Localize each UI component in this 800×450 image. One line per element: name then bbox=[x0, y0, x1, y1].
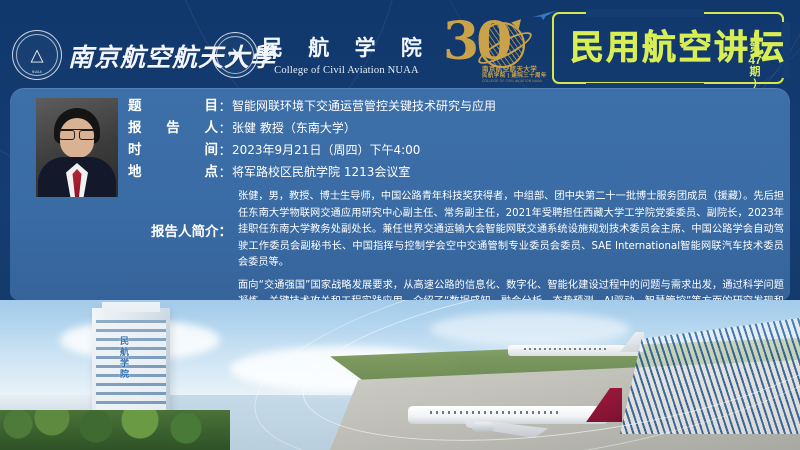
colon-title: ： bbox=[218, 96, 232, 117]
info-row-speaker: 报告人 ： 张健 教授（东南大学） bbox=[128, 118, 784, 139]
issue-badge: ( 第 47 期 ) bbox=[742, 30, 768, 90]
poster-header: △ NUAA 南京航空航天大學 ✈ 民 航 学 院 College of Civ… bbox=[0, 0, 800, 95]
label-location: 地点 bbox=[128, 162, 218, 183]
building-signage: 民航学院 bbox=[118, 336, 131, 380]
college-name-cn: 民 航 学 院 bbox=[262, 32, 431, 62]
poster-root: △ NUAA 南京航空航天大學 ✈ 民 航 学 院 College of Civ… bbox=[0, 0, 800, 450]
seal-wings-icon: ✈ bbox=[228, 47, 242, 64]
label-title: 题目 bbox=[128, 96, 218, 117]
value-location: 将军路校区民航学院 1213会议室 bbox=[232, 162, 410, 183]
campus-photo-band: 民航学院 bbox=[0, 300, 800, 450]
value-speaker: 张健 教授（东南大学） bbox=[232, 118, 356, 139]
speaker-portrait bbox=[36, 98, 118, 197]
college-name-en: College of Civil Aviation NUAA bbox=[262, 65, 431, 76]
bracket-cut-top bbox=[586, 9, 704, 17]
label-time: 时间 bbox=[128, 140, 218, 161]
university-seal-icon: △ NUAA bbox=[12, 30, 62, 80]
college-building bbox=[92, 308, 170, 426]
value-title: 智能网联环境下交通运营管控关键技术研究与应用 bbox=[232, 96, 496, 117]
issue-suffix: 期 bbox=[742, 66, 768, 78]
forum-title-badge: 民用航空讲坛 ( 第 47 期 ) bbox=[552, 12, 790, 88]
issue-number: 47 bbox=[742, 54, 768, 66]
colon-time: ： bbox=[218, 140, 232, 161]
speaker-bio-block: 报告人简介： 张健，男，教授、博士生导师，中国公路青年科技奖获得者，中组部、团中… bbox=[128, 189, 784, 272]
info-row-location: 地点 ： 将军路校区民航学院 1213会议室 bbox=[128, 162, 784, 183]
issue-bracket-open: ( bbox=[742, 30, 768, 42]
anniversary-caption-en: COLLEGE OF CIVIL AVIATION NUAA bbox=[482, 79, 542, 83]
seal-glyph-icon: △ bbox=[30, 47, 43, 64]
tree-line bbox=[0, 410, 230, 450]
info-row-title: 题目 ： 智能网联环境下交通运营管控关键技术研究与应用 bbox=[128, 96, 784, 117]
glasses-icon bbox=[59, 129, 95, 138]
seal-abbr: NUAA bbox=[32, 70, 42, 74]
colon-location: ： bbox=[218, 162, 232, 183]
building-windows bbox=[96, 320, 166, 422]
info-panel: 题目 ： 智能网联环境下交通运营管控关键技术研究与应用 报告人 ： 张健 教授（… bbox=[10, 88, 790, 300]
building-roof bbox=[102, 302, 160, 312]
anniversary-logo: 30 南京航空航天大学 民航学院 | 建院三十周年 COLLEGE OF CIV… bbox=[443, 14, 549, 86]
info-row-time: 时间 ： 2023年9月21日（周四）下午4:00 bbox=[128, 140, 784, 161]
college-seal-icon: ✈ bbox=[212, 32, 258, 78]
college-logo-text: 民 航 学 院 College of Civil Aviation NUAA bbox=[262, 32, 431, 76]
colon-speaker: ： bbox=[218, 118, 232, 139]
text-speaker-bio: 张健，男，教授、博士生导师，中国公路青年科技奖获得者，中组部、团中央第二十一批博… bbox=[232, 189, 784, 272]
anniversary-caption-line2: 民航学院 | 建院三十周年 bbox=[482, 71, 547, 79]
value-time: 2023年9月21日（周四）下午4:00 bbox=[232, 140, 420, 161]
label-speaker-bio: 报告人简介： bbox=[128, 220, 232, 240]
label-speaker: 报告人 bbox=[128, 118, 218, 139]
